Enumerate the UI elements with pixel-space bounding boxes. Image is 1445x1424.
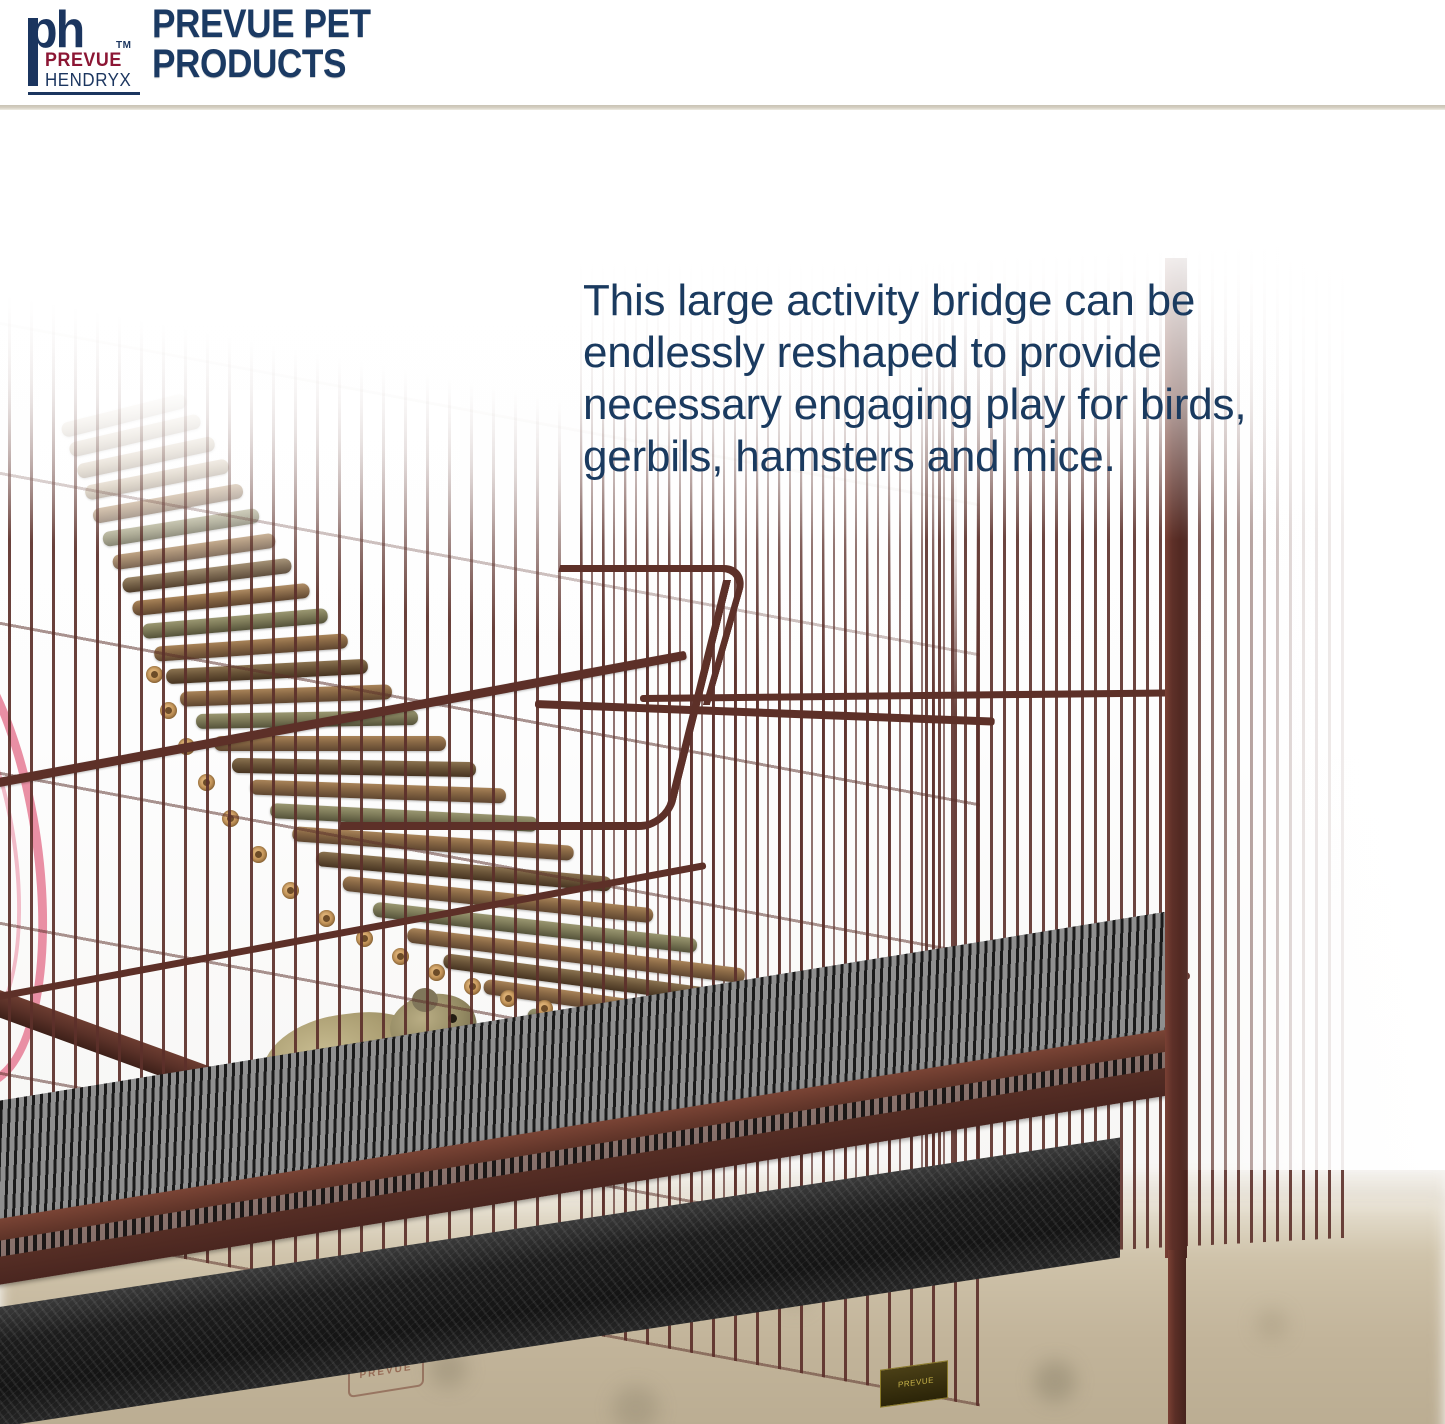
marketing-headline: This large activity bridge can be endles… <box>583 275 1323 483</box>
header-divider <box>0 105 1445 110</box>
logo-brand-hendryx: HENDRYX <box>45 70 131 91</box>
brand-title: PREVUE PET PRODUCTS <box>152 4 371 84</box>
photo-stage: PREVUE PREVUE This large activity bridge… <box>0 110 1445 1424</box>
brand-header: ph TM PREVUE HENDRYX PREVUE PET PRODUCTS <box>0 0 1445 110</box>
logo-monogram: ph <box>28 8 83 52</box>
prevue-hendryx-logo: ph TM PREVUE HENDRYX <box>28 8 136 86</box>
logo-brand-prevue: PREVUE <box>45 50 122 72</box>
cage-stand-leg-right <box>1168 1250 1186 1424</box>
product-lifestyle-image: ph TM PREVUE HENDRYX PREVUE PET PRODUCTS <box>0 0 1445 1424</box>
logo-underline <box>28 92 140 95</box>
